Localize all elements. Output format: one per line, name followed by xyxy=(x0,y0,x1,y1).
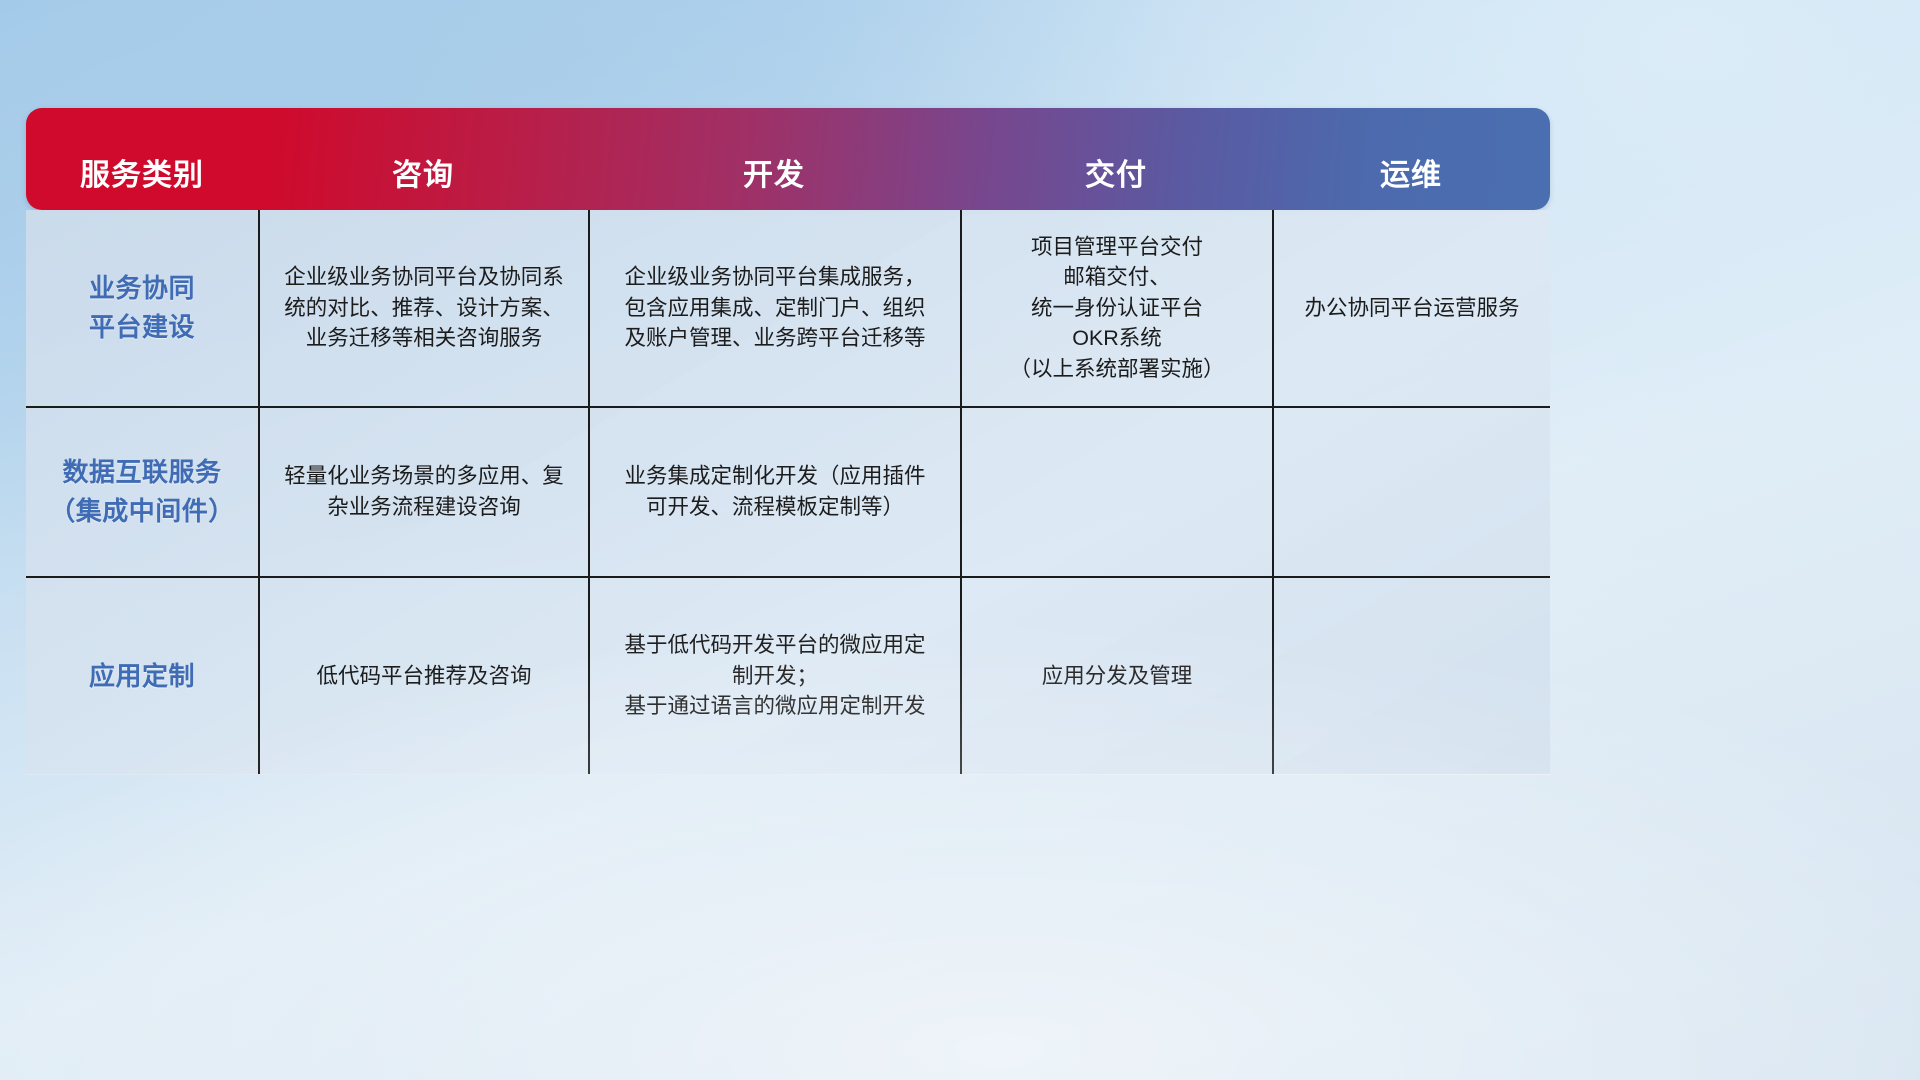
cell-development: 基于低代码开发平台的微应用定 制开发； 基于通过语言的微应用定制开发 xyxy=(588,578,960,774)
column-header-consulting: 咨询 xyxy=(258,108,588,210)
cell-operations xyxy=(1272,578,1550,774)
cell-delivery: 项目管理平台交付 邮箱交付、 统一身份认证平台 OKR系统 （以上系统部署实施） xyxy=(960,210,1272,406)
row-category-label: 业务协同 平台建设 xyxy=(26,210,258,406)
row-category-label: 数据互联服务 （集成中间件） xyxy=(26,408,258,576)
cell-delivery xyxy=(960,408,1272,576)
column-header-development: 开发 xyxy=(588,108,960,210)
cell-operations: 办公协同平台运营服务 xyxy=(1272,210,1550,406)
cell-development: 业务集成定制化开发（应用插件 可开发、流程模板定制等） xyxy=(588,408,960,576)
column-header-delivery: 交付 xyxy=(960,108,1272,210)
table-row: 数据互联服务 （集成中间件） 轻量化业务场景的多应用、复 杂业务流程建设咨询 业… xyxy=(26,406,1550,576)
cell-delivery: 应用分发及管理 xyxy=(960,578,1272,774)
column-header-service-category: 服务类别 xyxy=(26,108,258,210)
table-row: 应用定制 低代码平台推荐及咨询 基于低代码开发平台的微应用定 制开发； 基于通过… xyxy=(26,576,1550,774)
slide-canvas: 服务类别 咨询 开发 交付 运维 业务协同 平台建设 企业级业务协同平台及协同系… xyxy=(0,0,1920,1080)
cell-operations xyxy=(1272,408,1550,576)
cell-consulting: 轻量化业务场景的多应用、复 杂业务流程建设咨询 xyxy=(258,408,588,576)
row-category-label: 应用定制 xyxy=(26,578,258,774)
cell-consulting: 低代码平台推荐及咨询 xyxy=(258,578,588,774)
cell-consulting: 企业级业务协同平台及协同系 统的对比、推荐、设计方案、 业务迁移等相关咨询服务 xyxy=(258,210,588,406)
cell-development: 企业级业务协同平台集成服务， 包含应用集成、定制门户、组织 及账户管理、业务跨平… xyxy=(588,210,960,406)
table-row: 业务协同 平台建设 企业级业务协同平台及协同系 统的对比、推荐、设计方案、 业务… xyxy=(26,210,1550,406)
table-body: 业务协同 平台建设 企业级业务协同平台及协同系 统的对比、推荐、设计方案、 业务… xyxy=(26,210,1550,775)
table-header-row: 服务类别 咨询 开发 交付 运维 xyxy=(26,108,1550,210)
service-matrix-table: 服务类别 咨询 开发 交付 运维 业务协同 平台建设 企业级业务协同平台及协同系… xyxy=(26,108,1550,775)
column-header-operations: 运维 xyxy=(1272,108,1550,210)
